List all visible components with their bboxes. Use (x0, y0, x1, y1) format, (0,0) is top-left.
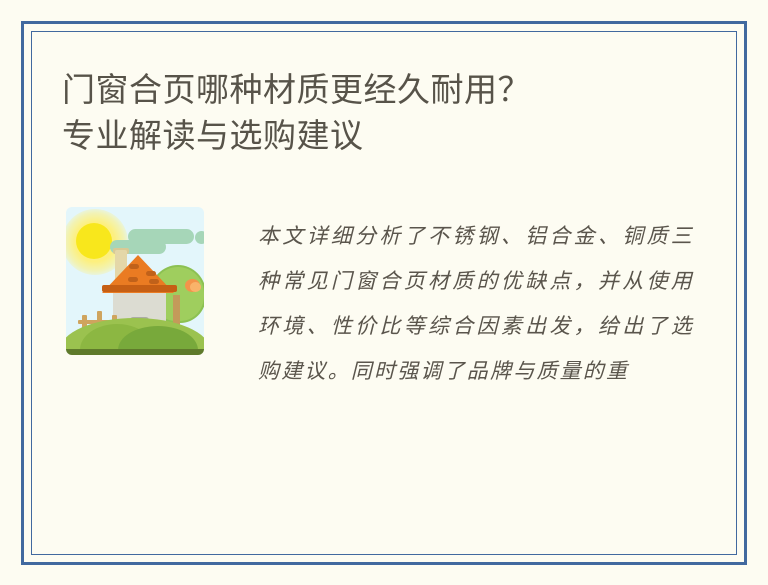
article-card: 门窗合页哪种材质更经久耐用？ 专业解读与选购建议 (21, 21, 747, 565)
sun-icon (76, 223, 112, 259)
roof-tile-icon (129, 264, 139, 269)
house-landscape-illustration (60, 202, 210, 360)
article-card-inner-border: 门窗合页哪种材质更经久耐用？ 专业解读与选购建议 (31, 31, 737, 555)
ground-strip-icon (66, 349, 204, 355)
fruit-highlight-icon (190, 282, 201, 292)
article-summary: 本文详细分析了不锈钢、铝合金、铜质三种常见门窗合页材质的优缺点，并从使用环境、性… (258, 214, 694, 394)
roof-eave-icon (102, 285, 177, 292)
roof-tile-icon (149, 279, 159, 284)
illustration-sky (66, 207, 204, 355)
cloud-dot-icon (195, 231, 204, 244)
roof-tile-icon (146, 271, 156, 276)
page-title: 门窗合页哪种材质更经久耐用？ 专业解读与选购建议 (62, 67, 702, 159)
article-content-row: 本文详细分析了不锈钢、铝合金、铜质三种常见门窗合页材质的优缺点，并从使用环境、性… (60, 202, 706, 502)
roof-tile-icon (128, 277, 138, 282)
